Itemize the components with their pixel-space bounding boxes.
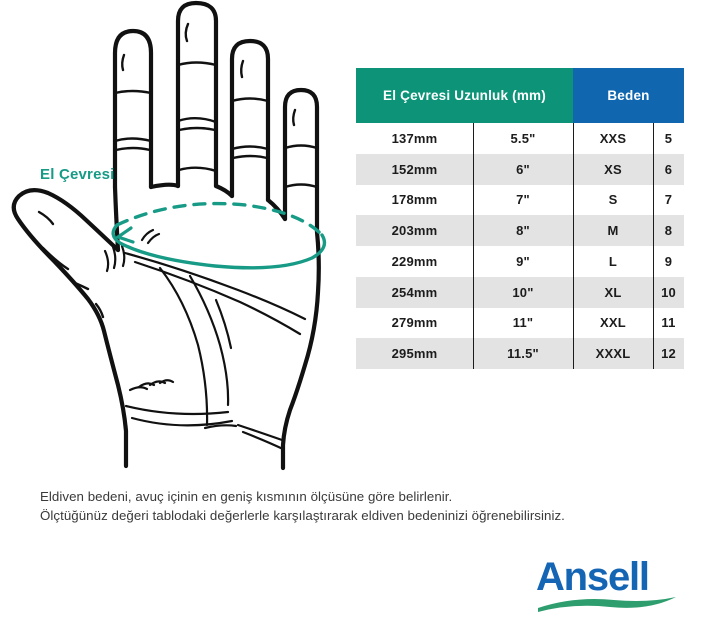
table-row: 203mm 8" M 8 [356, 215, 684, 246]
cell-inch: 9" [473, 246, 573, 277]
cell-size: XXL [573, 308, 653, 339]
table-row: 137mm 5.5" XXS 5 [356, 123, 684, 154]
table-row: 229mm 9" L 9 [356, 246, 684, 277]
cell-number: 11 [653, 308, 684, 339]
table-row: 279mm 11" XXL 11 [356, 308, 684, 339]
glove-size-table: El Çevresi Uzunluk (mm) Beden 137mm 5.5"… [356, 68, 684, 369]
measure-line-dashed [117, 204, 322, 235]
cell-number: 12 [653, 338, 684, 369]
table-column-divider [473, 123, 475, 369]
measure-line-solid [113, 225, 324, 268]
cell-inch: 7" [473, 185, 573, 216]
cell-size: XXXL [573, 338, 653, 369]
table-row: 152mm 6" XS 6 [356, 154, 684, 185]
cell-number: 8 [653, 215, 684, 246]
cell-number: 7 [653, 185, 684, 216]
cell-size: S [573, 185, 653, 216]
hand-illustration [0, 0, 350, 480]
table-header-circumference: El Çevresi Uzunluk (mm) [356, 68, 573, 123]
cell-number: 9 [653, 246, 684, 277]
cell-size: XL [573, 277, 653, 308]
cell-mm: 295mm [356, 338, 473, 369]
cell-inch: 5.5" [473, 123, 573, 154]
cell-inch: 11" [473, 308, 573, 339]
instruction-line-1: Eldiven bedeni, avuç içinin en geniş kıs… [40, 487, 660, 506]
cell-inch: 10" [473, 277, 573, 308]
ansell-logo: Ansell [536, 556, 686, 608]
cell-size: M [573, 215, 653, 246]
table-row: 254mm 10" XL 10 [356, 277, 684, 308]
table-column-divider [653, 123, 655, 369]
table-header-row: El Çevresi Uzunluk (mm) Beden [356, 68, 684, 123]
glove-size-chart-page: El Çevresi El Çevresi Uzunluk (mm) Beden… [0, 0, 706, 619]
instruction-line-2: Ölçtüğünüz değeri tablodaki değerlerle k… [40, 506, 660, 525]
cell-number: 10 [653, 277, 684, 308]
cell-number: 5 [653, 123, 684, 154]
instructions-block: Eldiven bedeni, avuç içinin en geniş kıs… [40, 487, 660, 525]
ansell-wordmark: Ansell [536, 556, 649, 598]
cell-mm: 254mm [356, 277, 473, 308]
cell-inch: 8" [473, 215, 573, 246]
ansell-swoosh-icon [536, 594, 686, 614]
measure-arrow-head [118, 228, 133, 242]
table-column-divider [573, 123, 575, 369]
table-row: 295mm 11.5" XXXL 12 [356, 338, 684, 369]
table-header-size: Beden [573, 68, 684, 123]
cell-mm: 279mm [356, 308, 473, 339]
cell-mm: 137mm [356, 123, 473, 154]
cell-size: XXS [573, 123, 653, 154]
hand-circumference-label: El Çevresi [40, 166, 115, 183]
table-body: 137mm 5.5" XXS 5 152mm 6" XS 6 178mm 7" … [356, 123, 684, 369]
cell-mm: 229mm [356, 246, 473, 277]
table-row: 178mm 7" S 7 [356, 185, 684, 216]
cell-size: XS [573, 154, 653, 185]
cell-mm: 152mm [356, 154, 473, 185]
cell-inch: 6" [473, 154, 573, 185]
cell-size: L [573, 246, 653, 277]
cell-number: 6 [653, 154, 684, 185]
cell-inch: 11.5" [473, 338, 573, 369]
cell-mm: 178mm [356, 185, 473, 216]
cell-mm: 203mm [356, 215, 473, 246]
